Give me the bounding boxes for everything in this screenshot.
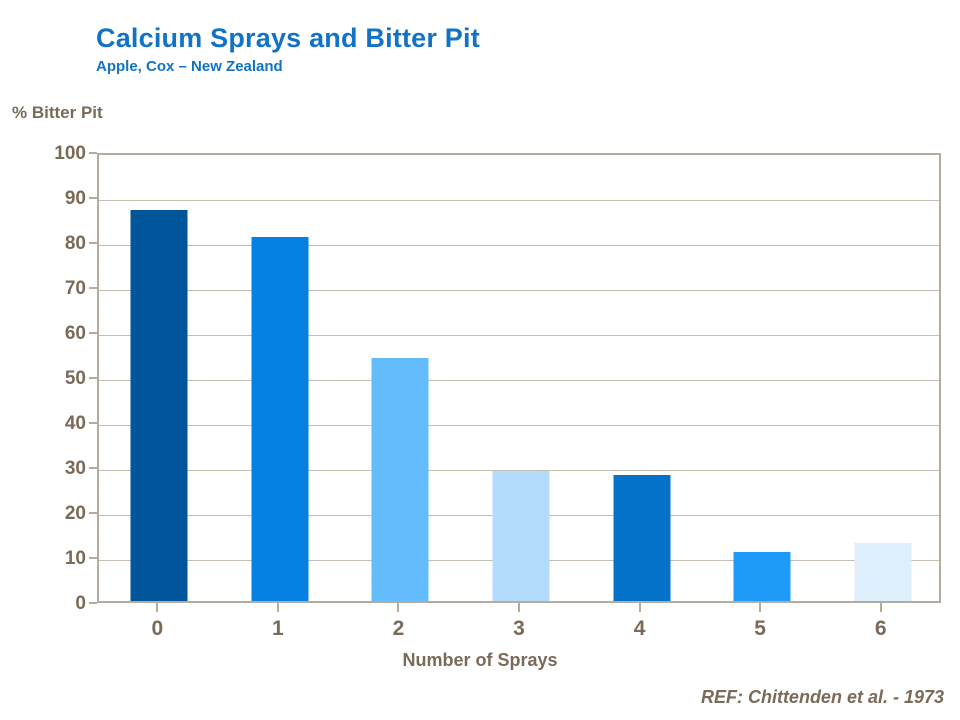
y-axis-tick-mark xyxy=(89,602,97,604)
x-axis-tick-label: 4 xyxy=(610,617,670,641)
y-axis-tick-label: 70 xyxy=(26,279,86,298)
slide-canvas: Calcium Sprays and Bitter Pit Apple, Cox… xyxy=(0,0,960,720)
x-axis-tick-mark xyxy=(397,603,399,612)
bar-slot xyxy=(702,155,823,601)
y-axis-tick-label: 60 xyxy=(26,324,86,343)
bar[interactable] xyxy=(734,552,791,602)
x-axis-tick-mark xyxy=(518,603,520,612)
bar[interactable] xyxy=(251,237,308,602)
page-title: Calcium Sprays and Bitter Pit xyxy=(96,22,480,54)
reference-note: REF: Chittenden et al. - 1973 xyxy=(701,687,944,708)
y-axis-tick-label: 100 xyxy=(26,144,86,163)
y-axis-tick-mark xyxy=(89,332,97,334)
x-axis-tick-label: 2 xyxy=(368,617,428,641)
plot-area xyxy=(97,153,941,603)
y-axis-tick-mark xyxy=(89,512,97,514)
y-axis-tick-mark xyxy=(89,242,97,244)
y-axis-tick-label: 30 xyxy=(26,459,86,478)
y-axis-tick-label: 40 xyxy=(26,414,86,433)
bar-slot xyxy=(99,155,220,601)
bar-slot xyxy=(220,155,341,601)
bar[interactable] xyxy=(492,471,549,602)
y-axis-tick-label: 80 xyxy=(26,234,86,253)
x-axis-tick-label: 5 xyxy=(730,617,790,641)
bar-slot xyxy=(461,155,582,601)
x-axis-tick-label: 6 xyxy=(851,617,911,641)
y-axis-tick-mark xyxy=(89,197,97,199)
y-axis-tick-label: 10 xyxy=(26,549,86,568)
x-axis-title: Number of Sprays xyxy=(0,650,960,671)
y-axis-title: % Bitter Pit xyxy=(12,103,103,123)
x-axis-tick-mark xyxy=(639,603,641,612)
bar-slot xyxy=(822,155,943,601)
x-axis-tick-mark xyxy=(759,603,761,612)
y-axis-tick-label: 20 xyxy=(26,504,86,523)
y-axis-tick-label: 90 xyxy=(26,189,86,208)
y-axis-tick-mark xyxy=(89,152,97,154)
y-axis-tick-label: 50 xyxy=(26,369,86,388)
title-block: Calcium Sprays and Bitter Pit Apple, Cox… xyxy=(96,22,480,78)
x-axis-tick-mark xyxy=(277,603,279,612)
x-axis-tick-label: 1 xyxy=(248,617,308,641)
x-axis-tick-mark xyxy=(880,603,882,612)
bar-slot xyxy=(340,155,461,601)
y-axis-tick-mark xyxy=(89,557,97,559)
bar-slot xyxy=(581,155,702,601)
page-subtitle: Apple, Cox – New Zealand xyxy=(96,56,480,78)
y-axis-tick-mark xyxy=(89,377,97,379)
x-axis-tick-label: 3 xyxy=(489,617,549,641)
bar-series xyxy=(99,155,939,601)
y-axis-tick-label: 0 xyxy=(26,594,86,613)
x-axis-tick-label: 0 xyxy=(127,617,187,641)
bar[interactable] xyxy=(613,475,670,601)
y-axis-tick-mark xyxy=(89,287,97,289)
bar[interactable] xyxy=(131,210,188,602)
y-axis-tick-mark xyxy=(89,422,97,424)
x-axis-tick-mark xyxy=(156,603,158,612)
y-axis-tick-labels: 0102030405060708090100 xyxy=(22,153,86,603)
bar[interactable] xyxy=(372,358,429,601)
y-axis-tick-mark xyxy=(89,467,97,469)
bar[interactable] xyxy=(854,543,911,602)
